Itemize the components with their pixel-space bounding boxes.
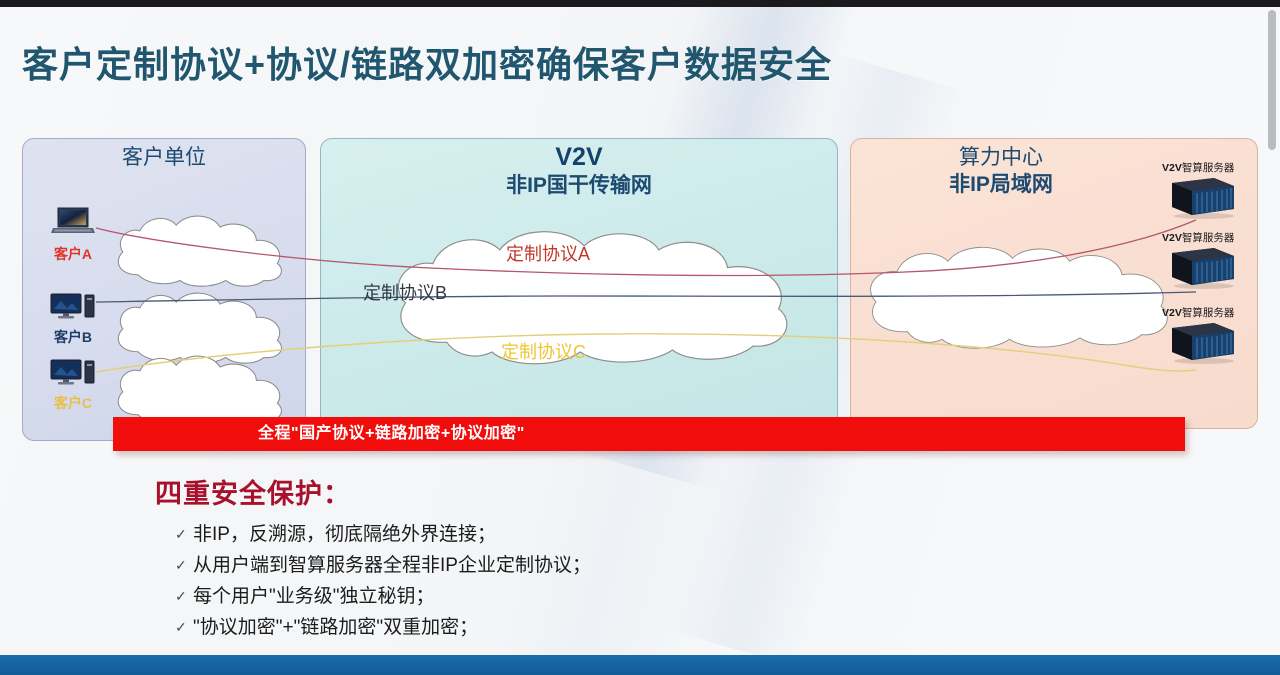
protocol-b-label: 定制协议B	[363, 279, 447, 305]
panel-customer-heading-line1: 客户单位	[23, 145, 305, 172]
client-a[interactable]: 客户A	[36, 205, 110, 264]
server-3-prefix: V2V	[1162, 307, 1182, 319]
server-1-label: V2V智算服务器	[1162, 160, 1258, 175]
list-item: ✓ 每个用户"业务级"独立秘钥；	[175, 585, 855, 609]
server-1-name: 智算服务器	[1182, 162, 1235, 174]
panel-network-heading-line2: 非IP国干传输网	[321, 173, 837, 200]
list-item-text: "协议加密"+"链路加密"双重加密；	[193, 616, 478, 640]
check-icon: ✓	[175, 554, 193, 576]
panel-compute-heading-line2: 非IP局域网	[851, 172, 1151, 199]
check-icon: ✓	[175, 616, 193, 638]
protocol-a-label: 定制协议A	[506, 240, 590, 266]
client-b[interactable]: 客户B	[36, 292, 110, 347]
laptop-icon	[51, 205, 95, 237]
list-item: ✓ 非IP，反溯源，彻底隔绝外界连接；	[175, 523, 855, 547]
list-item-text: 从用户端到智算服务器全程非IP企业定制协议；	[193, 554, 591, 578]
server-rack-icon	[1162, 245, 1240, 289]
check-icon: ✓	[175, 523, 193, 545]
desktop-icon	[49, 358, 97, 386]
server-1[interactable]: V2V智算服务器	[1162, 160, 1258, 224]
server-2[interactable]: V2V智算服务器	[1162, 230, 1258, 294]
architecture-diagram: 客户单位 V2V 非IP国干传输网 算力中心 非IP局域网	[0, 0, 1280, 470]
server-3-name: 智算服务器	[1182, 307, 1235, 319]
server-2-label: V2V智算服务器	[1162, 230, 1258, 245]
server-2-name: 智算服务器	[1182, 232, 1235, 244]
encryption-banner-text: 全程"国产协议+链路加密+协议加密"	[258, 417, 525, 451]
client-c[interactable]: 客户C	[36, 358, 110, 413]
check-icon: ✓	[175, 585, 193, 607]
slide-canvas: 客户定制协议+协议/链路双加密确保客户数据安全 客户单位 V2V 非IP国干传输…	[0, 0, 1280, 675]
security-section: 四重安全保护： ✓ 非IP，反溯源，彻底隔绝外界连接； ✓ 从用户端到智算服务器…	[155, 472, 855, 647]
list-item-text: 每个用户"业务级"独立秘钥；	[193, 585, 435, 609]
client-c-label: 客户C	[36, 393, 110, 413]
server-3-label: V2V智算服务器	[1162, 305, 1258, 320]
client-a-label: 客户A	[36, 244, 110, 264]
encryption-banner: 全程"国产协议+链路加密+协议加密"	[113, 417, 1185, 451]
window-top-bar	[0, 0, 1280, 7]
server-rack-icon	[1162, 175, 1240, 219]
desktop-icon	[49, 292, 97, 320]
list-item: ✓ "协议加密"+"链路加密"双重加密；	[175, 616, 855, 640]
scrollbar-thumb[interactable]	[1268, 10, 1276, 150]
window-bottom-bar	[0, 655, 1280, 675]
list-item: ✓ 从用户端到智算服务器全程非IP企业定制协议；	[175, 554, 855, 578]
server-1-prefix: V2V	[1162, 162, 1182, 174]
panel-compute-heading-line1: 算力中心	[851, 145, 1151, 172]
server-3[interactable]: V2V智算服务器	[1162, 305, 1258, 369]
panel-network-heading: V2V 非IP国干传输网	[321, 141, 837, 200]
server-rack-icon	[1162, 320, 1240, 364]
client-b-label: 客户B	[36, 327, 110, 347]
security-section-title: 四重安全保护：	[155, 472, 855, 511]
panel-customer-heading: 客户单位	[23, 145, 305, 172]
panel-network-heading-line1: V2V	[321, 141, 837, 173]
server-2-prefix: V2V	[1162, 232, 1182, 244]
panel-compute-heading: 算力中心 非IP局域网	[851, 145, 1151, 199]
list-item-text: 非IP，反溯源，彻底隔绝外界连接；	[193, 523, 496, 547]
protocol-c-label: 定制协议C	[501, 338, 586, 364]
